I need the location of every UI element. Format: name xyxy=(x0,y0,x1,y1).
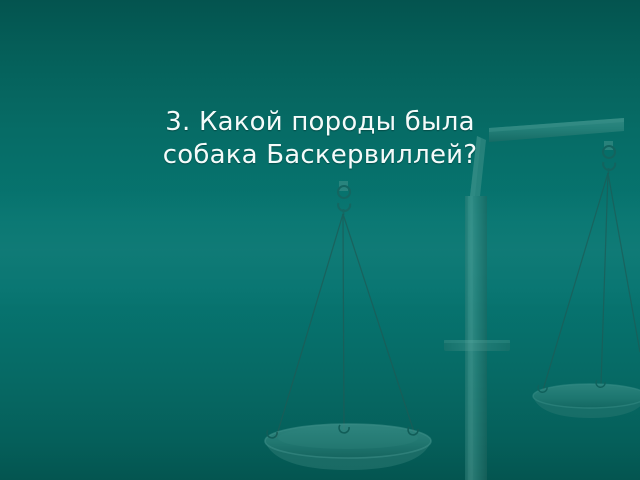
slide-canvas: 3. Какой породы была собака Баскервиллей… xyxy=(0,0,640,480)
scales-crossbar xyxy=(444,340,510,351)
balance-scales-illustration xyxy=(0,0,640,480)
left-hook-icon xyxy=(338,181,350,215)
scales-pillar xyxy=(465,196,487,480)
right-pan xyxy=(533,380,640,418)
left-pan xyxy=(265,424,431,470)
page-title: 3. Какой породы была собака Баскервиллей… xyxy=(163,106,478,172)
left-pan-chains xyxy=(276,214,414,438)
title-block: 3. Какой породы была собака Баскервиллей… xyxy=(0,106,640,172)
right-pan-chains xyxy=(543,173,640,390)
background-sheen xyxy=(0,190,640,310)
